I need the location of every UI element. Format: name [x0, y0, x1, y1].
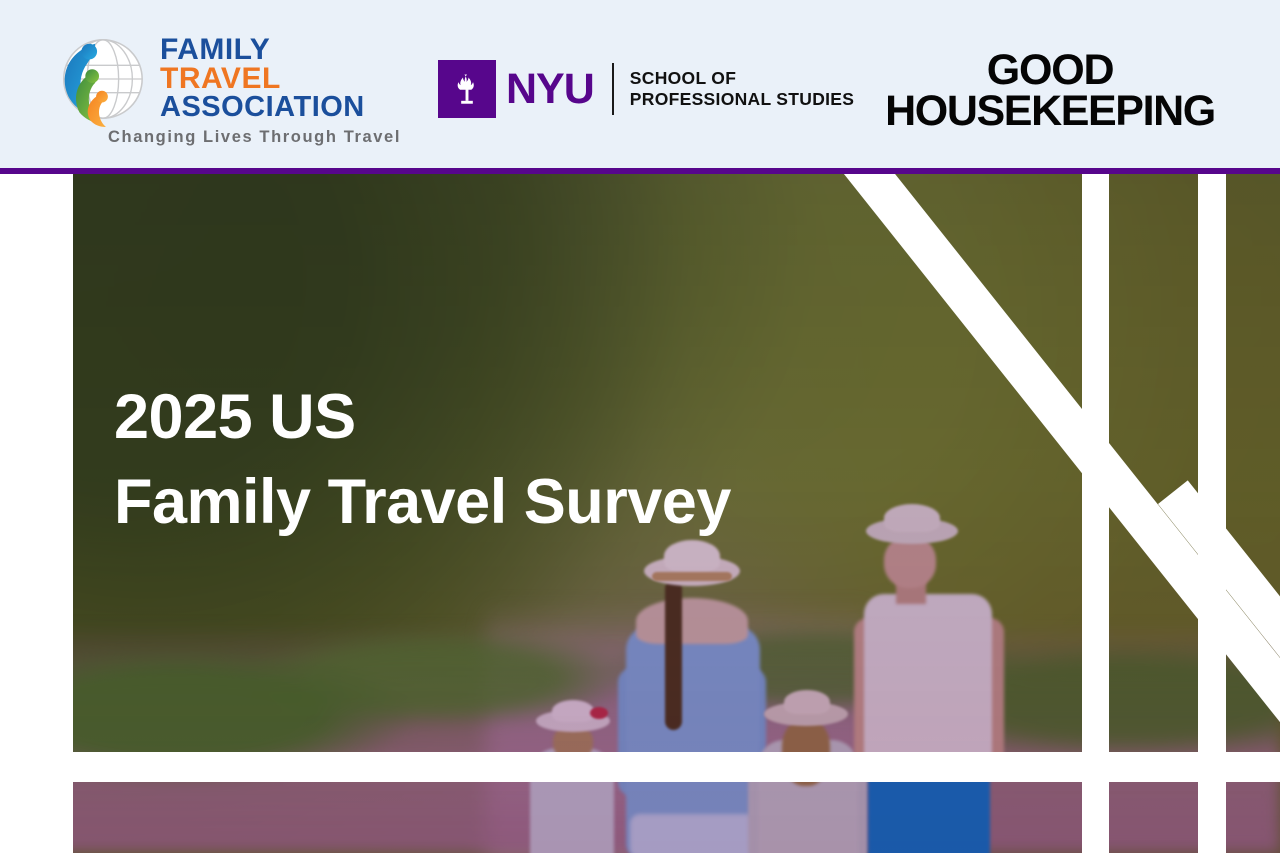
hero-section: 2025 US Family Travel Survey	[0, 174, 1280, 853]
globe-with-people-icon	[52, 30, 150, 128]
page-title-line-1: 2025 US	[114, 386, 731, 449]
page-title-line-2: Family Travel Survey	[114, 471, 731, 534]
partner-logo-bar: FAMILY TRAVEL ASSOCIATION Changing Lives…	[0, 0, 1280, 168]
fta-wordmark: FAMILY TRAVEL ASSOCIATION Changing Lives…	[160, 30, 401, 147]
nyu-subtitle-line-2: PROFESSIONAL STUDIES	[630, 89, 854, 110]
fta-line-3: ASSOCIATION	[160, 94, 401, 122]
nyu-torch-icon	[438, 60, 496, 118]
fta-line-2: TRAVEL	[160, 65, 401, 94]
logo-good-housekeeping: GOOD HOUSEKEEPING	[880, 50, 1220, 132]
nyu-subtitle: SCHOOL OF PROFESSIONAL STUDIES	[630, 68, 854, 111]
logo-family-travel-association: FAMILY TRAVEL ASSOCIATION Changing Lives…	[52, 30, 401, 147]
fta-tagline: Changing Lives Through Travel	[108, 128, 401, 147]
gh-line-1: GOOD	[880, 50, 1220, 91]
nyu-divider	[612, 63, 614, 115]
purple-accent-rule	[0, 168, 1280, 174]
nyu-subtitle-line-1: SCHOOL OF	[630, 68, 854, 89]
page-title: 2025 US Family Travel Survey	[114, 386, 731, 534]
logo-nyu-school-of-professional-studies: NYU SCHOOL OF PROFESSIONAL STUDIES	[438, 60, 854, 118]
gh-line-2: HOUSEKEEPING	[880, 91, 1220, 132]
fta-line-1: FAMILY	[160, 36, 401, 65]
nyu-wordmark: NYU	[506, 68, 594, 111]
survey-title-slide: FAMILY TRAVEL ASSOCIATION Changing Lives…	[0, 0, 1280, 853]
